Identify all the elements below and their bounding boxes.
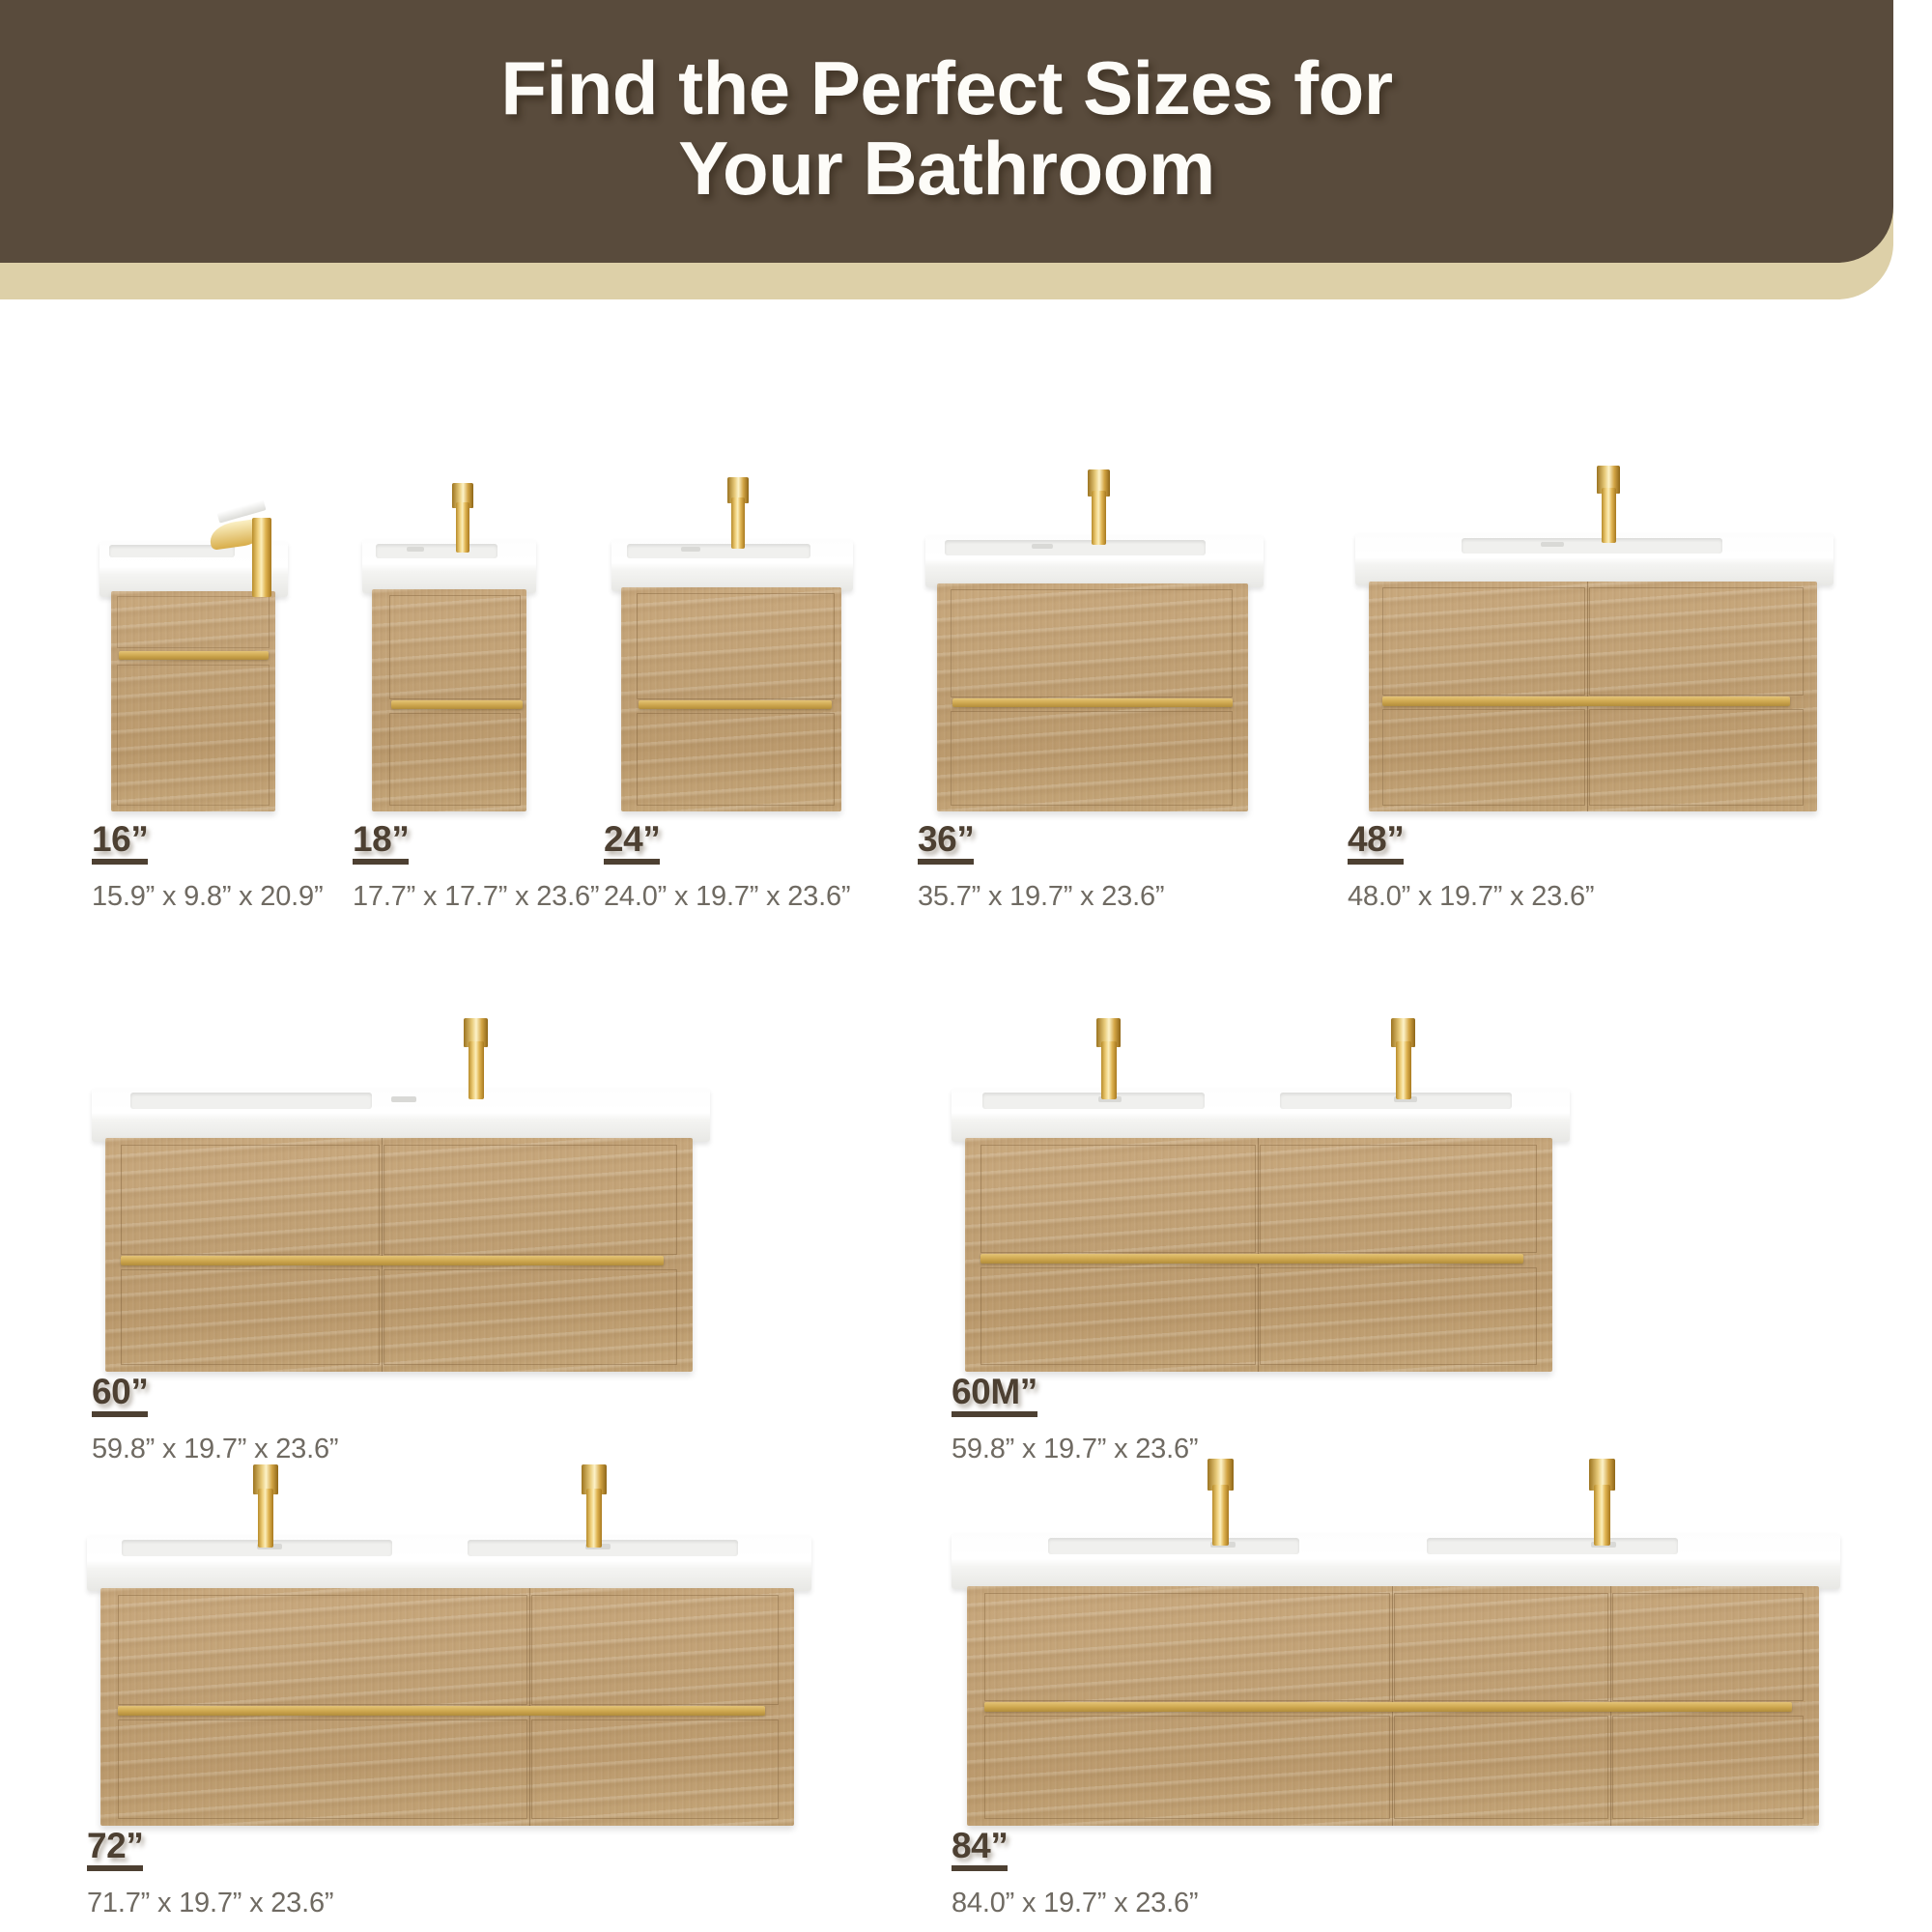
drawer-face-72-top-right (531, 1595, 779, 1705)
size-label: 84” (952, 1828, 1008, 1871)
product-card-84[interactable]: 84” 84.0” x 19.7” x 23.6” (952, 1323, 1850, 1826)
drawer-face-24-bottom (637, 713, 835, 806)
cabinet-16 (111, 591, 275, 811)
cabinet-36 (937, 583, 1248, 811)
drawer-face-72-top-left (118, 1595, 527, 1705)
square-faucet-icon-right (582, 1464, 607, 1548)
square-faucet-icon-right (1391, 1018, 1415, 1099)
drawer-face-84-bottom-2 (1394, 1716, 1608, 1819)
cabinet-24 (621, 587, 841, 811)
drawer-face-60m-top-left (980, 1145, 1256, 1253)
vanity-illustration-18 (362, 348, 536, 811)
drawer-face-18-bottom (389, 713, 521, 806)
sink-basin-72 (87, 1535, 811, 1591)
sink-basin-60m (952, 1088, 1570, 1142)
door-face-16 (117, 665, 270, 806)
drawer-face-60m-top-right (1260, 1145, 1537, 1253)
vanity-illustration-48 (1355, 348, 1833, 811)
drawer-face-84-top-3 (1612, 1593, 1804, 1701)
drawer-handle-24 (639, 700, 832, 709)
waterfall-faucet-icon (208, 506, 277, 597)
square-faucet-icon (1597, 466, 1620, 543)
vanity-illustration-16 (99, 348, 288, 811)
product-card-18[interactable]: 18” 17.7” x 17.7” x 23.6” (353, 328, 546, 811)
vanity-illustration-72 (87, 1348, 811, 1826)
product-card-16[interactable]: 16” 15.9” x 9.8” x 20.9” (92, 328, 299, 811)
drawer-handle-60 (121, 1256, 664, 1265)
sink-basin-60 (92, 1088, 710, 1142)
vanity-illustration-60m (952, 903, 1570, 1372)
square-faucet-icon (464, 1018, 488, 1099)
square-faucet-icon-left (1096, 1018, 1121, 1099)
product-card-48[interactable]: 48” 48.0” x 19.7” x 23.6” (1348, 328, 1840, 811)
drawer-handle-60m (980, 1254, 1523, 1264)
drawer-face-36-top (951, 589, 1233, 697)
drawer-face-24-top (637, 593, 835, 699)
drawer-face-36-bottom (951, 711, 1233, 806)
page-title: Find the Perfect Sizes for Your Bathroom (500, 48, 1392, 213)
vanity-illustration-24 (611, 348, 853, 811)
sink-basin-18 (362, 539, 536, 593)
drawer-handle-84 (984, 1702, 1792, 1712)
size-label: 36” (918, 821, 974, 865)
drawer-handle-16 (119, 651, 269, 660)
drawer-face-48-top-right (1589, 587, 1804, 696)
square-faucet-icon (452, 483, 473, 553)
vanity-illustration-60 (92, 903, 710, 1372)
drawer-face-84-bottom-1 (984, 1716, 1390, 1819)
drawer-handle-18 (391, 700, 523, 709)
label-block-72: 72” 71.7” x 19.7” x 23.6” (87, 1828, 333, 1919)
label-block-84: 84” 84.0” x 19.7” x 23.6” (952, 1828, 1198, 1919)
product-card-24[interactable]: 24” 24.0” x 19.7” x 23.6” (604, 328, 860, 811)
header-panel: Find the Perfect Sizes for Your Bathroom (0, 0, 1893, 263)
drawer-face-48-bottom-left (1382, 709, 1585, 806)
drawer-face-60-top-right (384, 1145, 677, 1255)
cabinet-84 (967, 1586, 1819, 1826)
drawer-handle-36 (952, 698, 1233, 707)
square-faucet-icon (727, 477, 749, 549)
sink-basin-84 (952, 1533, 1840, 1589)
drawer-face-72-bottom-left (118, 1719, 527, 1819)
drawer-face-48-top-left (1382, 587, 1585, 696)
size-label: 48” (1348, 821, 1404, 865)
product-card-60m[interactable]: 60M” 59.8” x 19.7” x 23.6” (952, 879, 1579, 1372)
size-label: 18” (353, 821, 409, 865)
drawer-face-84-top-1 (984, 1593, 1390, 1701)
size-label: 16” (92, 821, 148, 865)
drawer-face-60-top-left (121, 1145, 380, 1255)
product-size-board: 16” 15.9” x 9.8” x 20.9” 18” 17.7” x 17.… (0, 299, 1932, 1932)
square-faucet-icon (1088, 469, 1110, 545)
drawer-face-16-top (117, 596, 270, 648)
product-card-72[interactable]: 72” 71.7” x 19.7” x 23.6” (87, 1323, 821, 1826)
size-label: 72” (87, 1828, 143, 1871)
cabinet-72 (100, 1588, 794, 1826)
vanity-illustration-84 (952, 1348, 1840, 1826)
product-card-36[interactable]: 36” 35.7” x 19.7” x 23.6” (918, 328, 1270, 811)
vanity-illustration-36 (925, 348, 1264, 811)
cabinet-18 (372, 589, 526, 811)
product-card-60[interactable]: 60” 59.8” x 19.7” x 23.6” (92, 879, 720, 1372)
dimensions-label: 84.0” x 19.7” x 23.6” (952, 1888, 1198, 1919)
drawer-face-84-top-2 (1394, 1593, 1608, 1701)
sink-basin-48 (1355, 533, 1833, 585)
square-faucet-icon-left (253, 1464, 278, 1548)
square-faucet-icon-right (1589, 1459, 1615, 1546)
drawer-face-48-bottom-right (1589, 709, 1804, 806)
drawer-handle-48 (1382, 696, 1790, 706)
drawer-face-18-top (389, 595, 521, 699)
size-label: 24” (604, 821, 660, 865)
cabinet-48 (1369, 582, 1817, 811)
header-banner: Find the Perfect Sizes for Your Bathroom (0, 0, 1932, 299)
dimensions-label: 71.7” x 19.7” x 23.6” (87, 1888, 333, 1919)
drawer-face-84-bottom-3 (1612, 1716, 1804, 1819)
drawer-face-72-bottom-right (531, 1719, 779, 1819)
drawer-handle-72 (118, 1706, 765, 1716)
square-faucet-icon-left (1207, 1459, 1234, 1546)
